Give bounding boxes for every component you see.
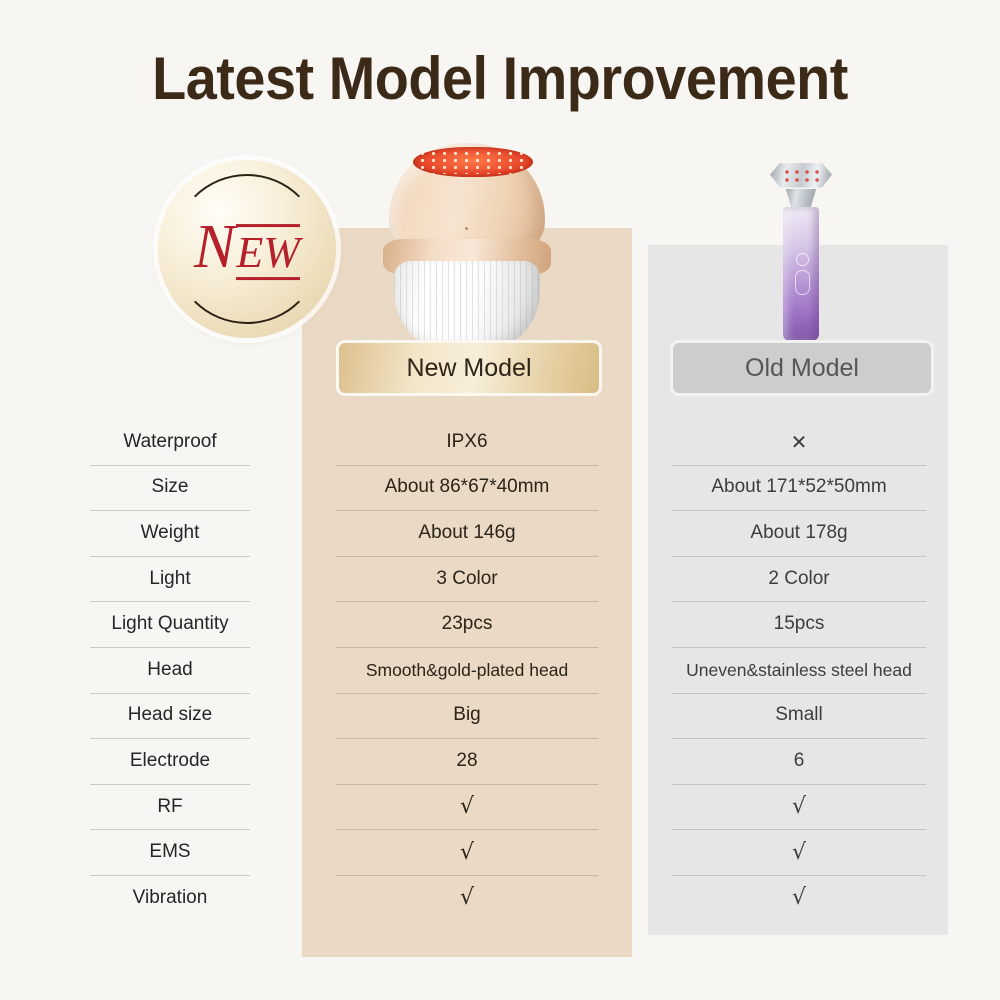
old-led-array-icon xyxy=(782,168,820,182)
check-icon: √ xyxy=(336,784,598,830)
device-indicator-dot xyxy=(465,227,468,230)
table-cell-old: 2 Color xyxy=(672,556,926,602)
check-icon: √ xyxy=(336,875,598,921)
table-row: Vibration xyxy=(90,875,250,921)
table-row: Light xyxy=(90,556,250,602)
table-row: Weight xyxy=(90,510,250,556)
table-cell-new: About 146g xyxy=(336,510,598,556)
cross-icon: ✕ xyxy=(672,420,926,465)
table-row: Head xyxy=(90,647,250,693)
table-row: Head size xyxy=(90,693,250,739)
led-array-icon xyxy=(413,147,533,177)
table-cell-old: About 178g xyxy=(672,510,926,556)
led-dots xyxy=(417,150,529,174)
new-model-device-image xyxy=(383,143,551,328)
table-cell-new: About 86*67*40mm xyxy=(336,465,598,511)
new-seal-badge: NEW xyxy=(158,160,336,338)
new-seal-text: NEW xyxy=(158,212,336,283)
new-seal-letter-n: N xyxy=(194,213,235,281)
mode-button-icon xyxy=(795,270,810,295)
table-row: RF xyxy=(90,784,250,830)
new-model-value-column: IPX6 About 86*67*40mm About 146g 3 Color… xyxy=(336,420,598,921)
power-button-icon xyxy=(796,253,809,266)
table-cell-new: Big xyxy=(336,693,598,739)
check-icon: √ xyxy=(672,875,926,921)
check-icon: √ xyxy=(672,829,926,875)
table-row: EMS xyxy=(90,829,250,875)
table-cell-old: Small xyxy=(672,693,926,739)
table-cell-new: Smooth&gold-plated head xyxy=(336,647,598,693)
table-cell-new: 3 Color xyxy=(336,556,598,602)
table-cell-old: About 171*52*50mm xyxy=(672,465,926,511)
table-cell-old: 6 xyxy=(672,738,926,784)
old-device-body xyxy=(783,207,819,341)
table-cell-old: 15pcs xyxy=(672,601,926,647)
infographic-stage: Latest Model Improvement NEW New Model O… xyxy=(0,0,1000,1000)
old-model-device-image xyxy=(770,163,832,345)
table-row: Electrode xyxy=(90,738,250,784)
feature-label-column: Waterproof Size Weight Light Light Quant… xyxy=(90,420,250,921)
table-cell-new: 23pcs xyxy=(336,601,598,647)
check-icon: √ xyxy=(672,784,926,830)
table-cell-old: Uneven&stainless steel head xyxy=(672,647,926,693)
table-row: Light Quantity xyxy=(90,601,250,647)
new-model-header-badge: New Model xyxy=(336,340,602,396)
table-cell-new: 28 xyxy=(336,738,598,784)
check-icon: √ xyxy=(336,829,598,875)
table-row: Waterproof xyxy=(90,420,250,465)
table-cell-new: IPX6 xyxy=(336,420,598,465)
old-model-header-badge: Old Model xyxy=(670,340,934,396)
page-title: Latest Model Improvement xyxy=(35,44,965,113)
table-row: Size xyxy=(90,465,250,511)
new-seal-letters-ew: EW xyxy=(236,224,300,280)
old-model-value-column: ✕ About 171*52*50mm About 178g 2 Color 1… xyxy=(672,420,926,921)
